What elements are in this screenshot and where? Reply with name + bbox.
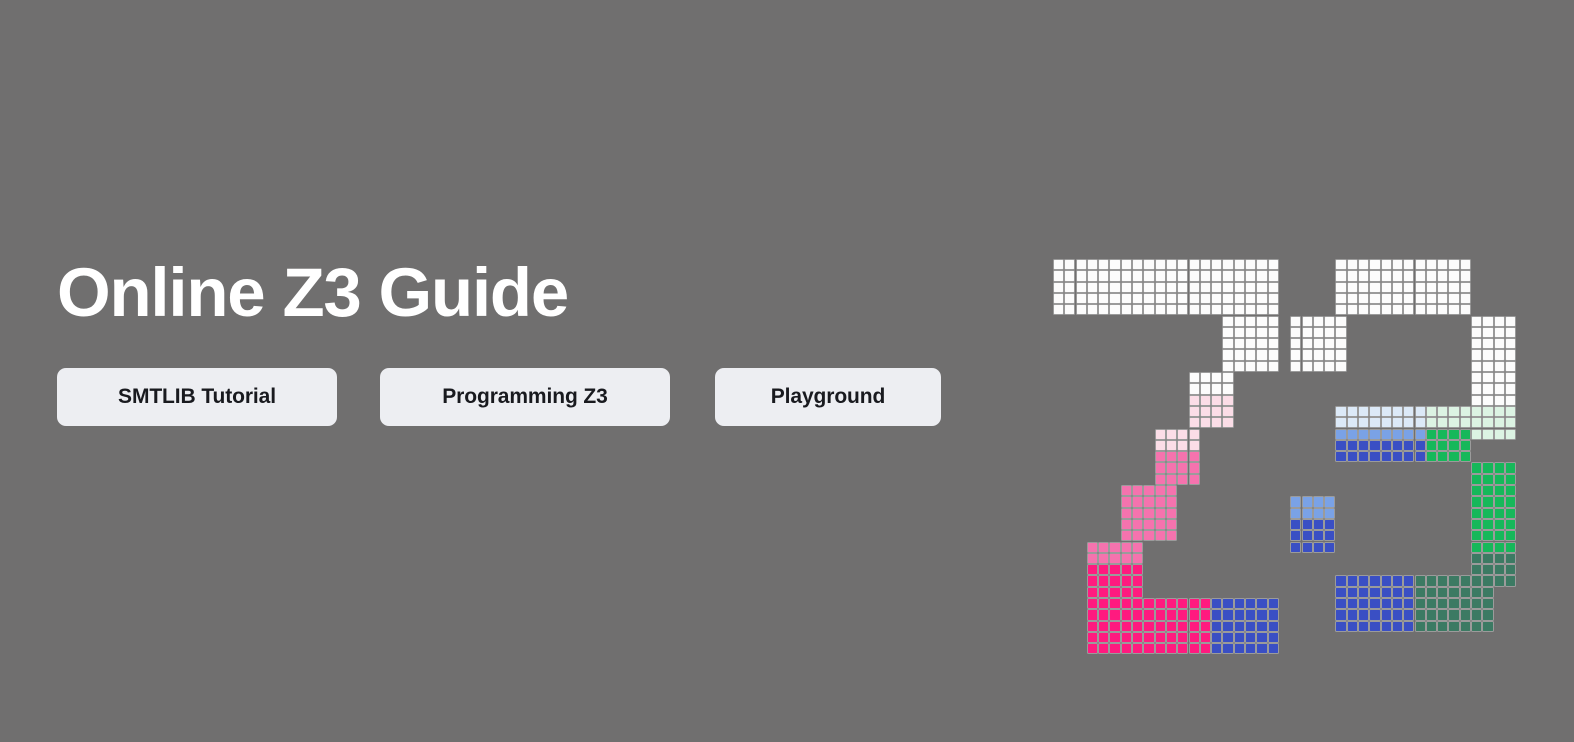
logo-pixel-cell [1471,609,1482,620]
logo-pixel-cell [1256,316,1267,327]
logo-pixel-cell [1403,259,1414,270]
logo-pixel-cell [1234,621,1245,632]
hero-section: Online Z3 Guide SMTLIB Tutorial Programm… [0,0,1574,742]
logo-pixel-cell [1369,304,1380,315]
logo-pixel-cell [1505,338,1516,349]
logo-pixel-cell [1335,316,1346,327]
logo-pixel-cell [1121,643,1132,654]
logo-pixel-cell [1426,440,1437,451]
logo-pixel-cell [1448,282,1459,293]
logo-pixel-cell [1189,632,1200,643]
logo-pixel-cell [1064,282,1075,293]
logo-pixel-cell [1505,575,1516,586]
logo-pixel-cell [1437,304,1448,315]
logo-pixel-cell [1189,598,1200,609]
logo-pixel-cell [1109,270,1120,281]
logo-pixel-cell [1415,575,1426,586]
logo-pixel-cell [1189,293,1200,304]
logo-pixel-cell [1177,598,1188,609]
logo-pixel-cell [1177,621,1188,632]
logo-pixel-cell [1098,259,1109,270]
logo-pixel-cell [1471,575,1482,586]
logo-pixel-cell [1155,282,1166,293]
logo-pixel-cell [1121,282,1132,293]
logo-pixel-cell [1347,417,1358,428]
logo-pixel-cell [1335,406,1346,417]
logo-pixel-cell [1200,372,1211,383]
logo-pixel-cell [1268,327,1279,338]
logo-pixel-cell [1268,609,1279,620]
logo-pixel-cell [1290,496,1301,507]
logo-pixel-cell [1505,327,1516,338]
logo-pixel-cell [1460,259,1471,270]
logo-pixel-cell [1256,609,1267,620]
logo-pixel-cell [1087,575,1098,586]
logo-pixel-cell [1222,327,1233,338]
logo-pixel-cell [1177,451,1188,462]
logo-pixel-cell [1471,395,1482,406]
logo-pixel-cell [1132,643,1143,654]
logo-pixel-cell [1166,643,1177,654]
logo-pixel-cell [1505,361,1516,372]
logo-pixel-cell [1189,383,1200,394]
logo-pixel-cell [1426,587,1437,598]
logo-pixel-cell [1268,361,1279,372]
logo-pixel-cell [1211,621,1222,632]
logo-pixel-cell [1121,259,1132,270]
logo-pixel-cell [1109,259,1120,270]
logo-pixel-cell [1313,530,1324,541]
logo-pixel-cell [1087,598,1098,609]
logo-pixel-cell [1448,598,1459,609]
logo-pixel-cell [1076,282,1087,293]
logo-pixel-cell [1335,304,1346,315]
logo-pixel-cell [1335,349,1346,360]
logo-pixel-cell [1211,282,1222,293]
logo-pixel-cell [1302,316,1313,327]
logo-pixel-cell [1302,519,1313,530]
logo-pixel-cell [1448,575,1459,586]
logo-pixel-cell [1358,451,1369,462]
logo-pixel-cell [1369,587,1380,598]
logo-pixel-cell [1426,609,1437,620]
logo-pixel-cell [1358,587,1369,598]
logo-pixel-cell [1076,259,1087,270]
logo-pixel-cell [1448,417,1459,428]
logo-pixel-cell [1471,621,1482,632]
logo-pixel-cell [1200,383,1211,394]
logo-pixel-cell [1200,621,1211,632]
logo-pixel-cell [1448,429,1459,440]
logo-pixel-cell [1448,587,1459,598]
logo-pixel-cell [1109,632,1120,643]
logo-pixel-cell [1222,632,1233,643]
logo-pixel-cell [1482,383,1493,394]
logo-pixel-cell [1415,451,1426,462]
logo-pixel-cell [1347,598,1358,609]
logo-pixel-cell [1132,293,1143,304]
logo-pixel-cell [1313,361,1324,372]
logo-pixel-cell [1200,304,1211,315]
logo-pixel-cell [1392,451,1403,462]
logo-pixel-cell [1358,259,1369,270]
logo-pixel-cell [1121,632,1132,643]
logo-pixel-cell [1087,304,1098,315]
logo-pixel-cell [1155,293,1166,304]
logo-pixel-cell [1335,417,1346,428]
logo-pixel-cell [1381,304,1392,315]
logo-pixel-cell [1121,587,1132,598]
logo-pixel-cell [1222,609,1233,620]
logo-pixel-cell [1369,575,1380,586]
logo-pixel-cell [1211,259,1222,270]
logo-pixel-cell [1098,609,1109,620]
logo-pixel-cell [1087,609,1098,620]
logo-pixel-cell [1403,440,1414,451]
logo-pixel-cell [1381,621,1392,632]
logo-pixel-cell [1302,496,1313,507]
logo-pixel-cell [1143,632,1154,643]
logo-pixel-cell [1256,598,1267,609]
logo-pixel-cell [1143,621,1154,632]
logo-pixel-cell [1347,609,1358,620]
logo-pixel-cell [1358,575,1369,586]
logo-pixel-cell [1132,530,1143,541]
logo-pixel-cell [1132,508,1143,519]
logo-pixel-cell [1121,270,1132,281]
logo-pixel-cell [1381,282,1392,293]
logo-pixel-cell [1200,293,1211,304]
logo-pixel-cell [1189,304,1200,315]
logo-pixel-cell [1143,282,1154,293]
logo-pixel-cell [1132,609,1143,620]
logo-pixel-cell [1268,270,1279,281]
logo-pixel-cell [1403,609,1414,620]
logo-pixel-cell [1256,270,1267,281]
logo-pixel-cell [1381,417,1392,428]
logo-pixel-cell [1437,417,1448,428]
logo-pixel-cell [1222,304,1233,315]
logo-pixel-cell [1313,327,1324,338]
logo-pixel-cell [1302,338,1313,349]
logo-pixel-cell [1098,575,1109,586]
logo-pixel-cell [1109,575,1120,586]
logo-pixel-cell [1335,327,1346,338]
logo-pixel-cell [1494,316,1505,327]
logo-pixel-cell [1200,609,1211,620]
logo-pixel-cell [1302,542,1313,553]
logo-pixel-cell [1290,327,1301,338]
logo-pixel-cell [1471,564,1482,575]
logo-pixel-cell [1290,508,1301,519]
logo-pixel-cell [1482,349,1493,360]
logo-pixel-cell [1415,609,1426,620]
logo-pixel-cell [1448,259,1459,270]
logo-pixel-cell [1234,304,1245,315]
logo-pixel-cell [1222,282,1233,293]
logo-pixel-cell [1166,609,1177,620]
logo-pixel-cell [1335,587,1346,598]
logo-pixel-cell [1482,372,1493,383]
logo-pixel-cell [1189,451,1200,462]
logo-pixel-cell [1403,304,1414,315]
logo-pixel-cell [1358,406,1369,417]
logo-pixel-cell [1505,462,1516,473]
logo-pixel-cell [1471,316,1482,327]
logo-pixel-cell [1415,440,1426,451]
logo-pixel-cell [1211,293,1222,304]
logo-pixel-cell [1482,508,1493,519]
logo-pixel-cell [1211,417,1222,428]
logo-pixel-cell [1268,316,1279,327]
logo-pixel-cell [1505,349,1516,360]
logo-pixel-cell [1505,530,1516,541]
logo-pixel-cell [1482,564,1493,575]
logo-pixel-cell [1200,270,1211,281]
logo-pixel-cell [1369,598,1380,609]
logo-pixel-cell [1437,587,1448,598]
logo-pixel-cell [1166,519,1177,530]
logo-pixel-cell [1302,361,1313,372]
logo-pixel-cell [1471,519,1482,530]
logo-pixel-cell [1494,553,1505,564]
logo-pixel-cell [1415,304,1426,315]
logo-pixel-cell [1415,293,1426,304]
logo-pixel-cell [1335,451,1346,462]
logo-pixel-cell [1347,575,1358,586]
logo-pixel-cell [1324,338,1335,349]
logo-pixel-cell [1234,282,1245,293]
logo-pixel-cell [1471,338,1482,349]
logo-pixel-cell [1189,474,1200,485]
logo-pixel-cell [1471,372,1482,383]
logo-pixel-cell [1460,621,1471,632]
logo-pixel-cell [1053,282,1064,293]
logo-pixel-cell [1335,429,1346,440]
logo-pixel-cell [1369,259,1380,270]
logo-pixel-cell [1460,451,1471,462]
logo-pixel-cell [1166,451,1177,462]
logo-pixel-cell [1121,609,1132,620]
logo-pixel-cell [1222,598,1233,609]
logo-pixel-cell [1482,485,1493,496]
logo-pixel-cell [1426,304,1437,315]
logo-pixel-cell [1471,587,1482,598]
logo-pixel-cell [1460,270,1471,281]
logo-pixel-cell [1109,564,1120,575]
logo-pixel-cell [1369,270,1380,281]
logo-pixel-cell [1121,485,1132,496]
logo-pixel-cell [1143,508,1154,519]
logo-pixel-cell [1166,304,1177,315]
logo-pixel-cell [1437,282,1448,293]
logo-pixel-cell [1222,316,1233,327]
logo-pixel-cell [1245,338,1256,349]
logo-pixel-cell [1155,643,1166,654]
logo-pixel-cell [1358,417,1369,428]
logo-pixel-cell [1426,429,1437,440]
logo-pixel-cell [1392,609,1403,620]
logo-pixel-cell [1460,406,1471,417]
smtlib-tutorial-button[interactable]: SMTLIB Tutorial [57,368,337,426]
logo-pixel-cell [1155,508,1166,519]
logo-pixel-cell [1494,338,1505,349]
logo-pixel-cell [1222,259,1233,270]
logo-pixel-cell [1256,361,1267,372]
logo-pixel-cell [1087,643,1098,654]
logo-pixel-cell [1505,508,1516,519]
logo-pixel-cell [1098,282,1109,293]
logo-pixel-cell [1471,383,1482,394]
logo-pixel-cell [1347,621,1358,632]
logo-pixel-cell [1358,282,1369,293]
logo-pixel-cell [1121,542,1132,553]
logo-pixel-cell [1347,270,1358,281]
logo-pixel-cell [1245,293,1256,304]
logo-pixel-cell [1211,372,1222,383]
logo-pixel-cell [1505,395,1516,406]
logo-pixel-cell [1143,293,1154,304]
logo-pixel-cell [1302,349,1313,360]
logo-pixel-cell [1189,259,1200,270]
logo-pixel-cell [1109,621,1120,632]
logo-pixel-cell [1335,440,1346,451]
logo-pixel-cell [1358,621,1369,632]
logo-pixel-cell [1482,361,1493,372]
logo-pixel-cell [1482,406,1493,417]
logo-pixel-cell [1448,440,1459,451]
logo-pixel-cell [1460,417,1471,428]
logo-pixel-cell [1415,259,1426,270]
logo-pixel-cell [1245,598,1256,609]
logo-pixel-cell [1155,530,1166,541]
logo-pixel-cell [1494,485,1505,496]
logo-pixel-cell [1448,451,1459,462]
logo-pixel-cell [1392,575,1403,586]
logo-pixel-cell [1155,429,1166,440]
logo-pixel-cell [1494,406,1505,417]
logo-pixel-cell [1415,598,1426,609]
logo-pixel-cell [1358,270,1369,281]
logo-pixel-cell [1177,304,1188,315]
logo-pixel-cell [1166,293,1177,304]
logo-pixel-cell [1234,259,1245,270]
logo-pixel-cell [1505,383,1516,394]
logo-pixel-cell [1155,462,1166,473]
logo-pixel-cell [1381,270,1392,281]
logo-pixel-cell [1290,530,1301,541]
logo-pixel-cell [1369,429,1380,440]
logo-pixel-cell [1200,395,1211,406]
logo-pixel-cell [1268,293,1279,304]
logo-pixel-cell [1189,282,1200,293]
logo-pixel-cell [1403,587,1414,598]
logo-pixel-cell [1143,485,1154,496]
logo-pixel-cell [1132,282,1143,293]
logo-pixel-cell [1143,496,1154,507]
logo-pixel-cell [1121,598,1132,609]
logo-pixel-cell [1494,530,1505,541]
logo-pixel-cell [1200,643,1211,654]
logo-pixel-cell [1098,553,1109,564]
logo-pixel-cell [1426,417,1437,428]
logo-pixel-cell [1234,632,1245,643]
programming-z3-button[interactable]: Programming Z3 [380,368,670,426]
logo-pixel-cell [1121,496,1132,507]
logo-pixel-cell [1098,632,1109,643]
playground-button[interactable]: Playground [715,368,941,426]
logo-pixel-cell [1335,259,1346,270]
logo-pixel-cell [1121,564,1132,575]
logo-pixel-cell [1335,575,1346,586]
logo-pixel-cell [1245,643,1256,654]
logo-pixel-cell [1415,587,1426,598]
logo-pixel-cell [1256,349,1267,360]
logo-pixel-cell [1222,406,1233,417]
logo-pixel-cell [1245,282,1256,293]
logo-pixel-cell [1448,406,1459,417]
logo-pixel-cell [1211,598,1222,609]
logo-pixel-cell [1347,429,1358,440]
logo-pixel-cell [1245,621,1256,632]
logo-pixel-cell [1268,338,1279,349]
logo-pixel-cell [1053,259,1064,270]
logo-pixel-cell [1256,643,1267,654]
logo-pixel-cell [1482,496,1493,507]
logo-pixel-cell [1166,429,1177,440]
logo-pixel-cell [1189,429,1200,440]
logo-pixel-cell [1460,429,1471,440]
logo-pixel-cell [1166,632,1177,643]
logo-pixel-cell [1471,485,1482,496]
logo-pixel-cell [1426,259,1437,270]
logo-pixel-cell [1335,621,1346,632]
hero-text-column: Online Z3 Guide SMTLIB Tutorial Programm… [57,258,957,426]
logo-pixel-cell [1437,429,1448,440]
logo-pixel-cell [1109,542,1120,553]
logo-pixel-cell [1177,259,1188,270]
logo-pixel-cell [1448,293,1459,304]
logo-pixel-cell [1177,270,1188,281]
logo-pixel-cell [1098,643,1109,654]
logo-pixel-cell [1087,553,1098,564]
logo-pixel-cell [1460,282,1471,293]
logo-pixel-cell [1143,530,1154,541]
logo-pixel-cell [1313,316,1324,327]
logo-pixel-cell [1064,304,1075,315]
logo-pixel-cell [1211,304,1222,315]
logo-pixel-cell [1200,598,1211,609]
logo-pixel-cell [1381,259,1392,270]
logo-pixel-cell [1245,270,1256,281]
logo-pixel-cell [1494,462,1505,473]
logo-pixel-cell [1098,587,1109,598]
logo-pixel-cell [1482,462,1493,473]
logo-pixel-cell [1143,598,1154,609]
logo-pixel-cell [1155,632,1166,643]
logo-pixel-cell [1437,293,1448,304]
logo-pixel-cell [1494,575,1505,586]
logo-pixel-cell [1482,316,1493,327]
logo-pixel-cell [1460,598,1471,609]
logo-pixel-cell [1166,598,1177,609]
logo-pixel-cell [1200,632,1211,643]
logo-pixel-cell [1268,349,1279,360]
logo-pixel-cell [1132,587,1143,598]
logo-pixel-cell [1211,609,1222,620]
logo-pixel-cell [1505,496,1516,507]
logo-pixel-cell [1076,293,1087,304]
